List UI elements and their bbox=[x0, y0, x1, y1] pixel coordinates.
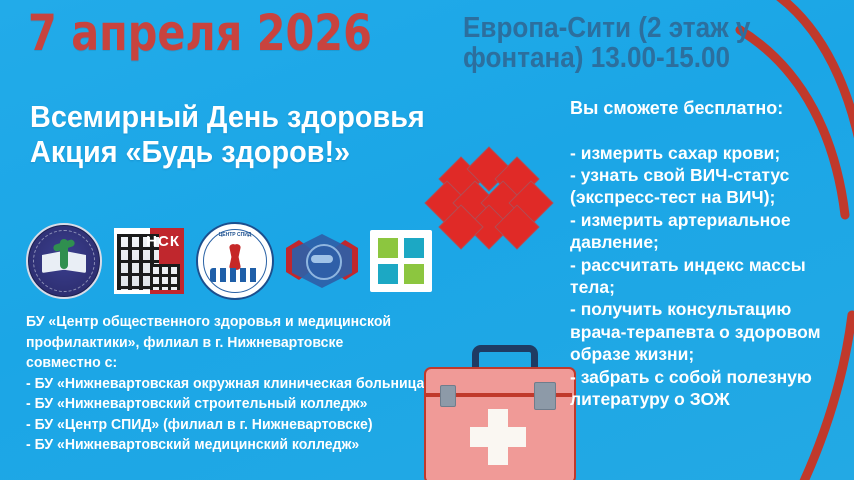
medical-cross-icon-bar bbox=[470, 427, 526, 447]
people-icon bbox=[210, 268, 260, 282]
square-teal-bl bbox=[378, 264, 398, 284]
service-item: - узнать свой ВИЧ-статус bbox=[570, 164, 850, 186]
service-item: тела; bbox=[570, 276, 850, 298]
event-venue: Европа-Сити (2 этаж у фонтана) 13.00-15.… bbox=[463, 14, 760, 73]
partner-logos: НСК ЦЕНТР СПИД bbox=[26, 222, 432, 300]
kit-clasp-right bbox=[534, 382, 556, 410]
service-item: давление; bbox=[570, 231, 850, 253]
organizers-block: БУ «Центр общественного здоровья и медиц… bbox=[26, 312, 453, 456]
service-item: - получить консультацию bbox=[570, 298, 850, 320]
kit-clasp-left bbox=[440, 385, 456, 407]
organizer-lead-1: БУ «Центр общественного здоровья и медиц… bbox=[26, 312, 453, 333]
service-item: образе жизни; bbox=[570, 343, 850, 365]
organizer-lead-2: профилактики», филиал в г. Нижневартовск… bbox=[26, 333, 453, 354]
organizer-partner: - БУ «Нижневартовский медицинский коллед… bbox=[26, 435, 453, 456]
title-line-1: Всемирный День здоровья bbox=[30, 100, 467, 135]
services-column: Вы сможете бесплатно: - измерить сахар к… bbox=[570, 98, 850, 410]
service-item: - рассчитать индекс массы bbox=[570, 254, 850, 276]
square-green-br bbox=[404, 264, 424, 284]
clinical-hospital-emblem bbox=[286, 228, 358, 294]
mosaic-heart bbox=[425, 145, 575, 265]
emblem-top-text: ЦЕНТР СПИД bbox=[198, 232, 272, 238]
service-item: (экспресс-тест на ВИЧ); bbox=[570, 186, 850, 208]
organizer-partner: - БУ «Центр СПИД» (филиал в г. Нижневарт… bbox=[26, 415, 453, 436]
organizer-lead-3: совместно с: bbox=[26, 353, 453, 374]
service-item: - измерить сахар крови; bbox=[570, 142, 850, 164]
construction-college-emblem: НСК bbox=[114, 228, 184, 294]
public-health-center-emblem bbox=[26, 223, 102, 299]
first-aid-kit bbox=[424, 345, 572, 480]
page-title: Всемирный День здоровья Акция «Будь здор… bbox=[30, 100, 467, 169]
service-item: врача-терапевта о здоровом bbox=[570, 321, 850, 343]
medical-college-emblem bbox=[370, 230, 432, 292]
service-item: - измерить артериальное bbox=[570, 209, 850, 231]
organizer-partner: - БУ «Нижневартовский строительный колле… bbox=[26, 394, 453, 415]
service-item: литературу о ЗОЖ bbox=[570, 388, 850, 410]
title-line-2: Акция «Будь здоров!» bbox=[30, 135, 467, 170]
services-heading: Вы сможете бесплатно: bbox=[570, 98, 850, 120]
aids-center-emblem: ЦЕНТР СПИД bbox=[196, 222, 274, 300]
emblem-initials: НСК bbox=[146, 233, 180, 250]
organizer-partner: - БУ «Нижневартовская окружная клиническ… bbox=[26, 374, 453, 395]
square-green-tl bbox=[378, 238, 398, 258]
square-teal-tr bbox=[404, 238, 424, 258]
health-day-poster: 7 апреля 2026 Европа-Сити (2 этаж у фонт… bbox=[0, 0, 854, 480]
service-item: - забрать с собой полезную bbox=[570, 366, 850, 388]
building-secondary-icon bbox=[150, 264, 180, 290]
emblem-wing-icon bbox=[311, 255, 333, 263]
event-date: 7 апреля 2026 bbox=[28, 8, 372, 58]
